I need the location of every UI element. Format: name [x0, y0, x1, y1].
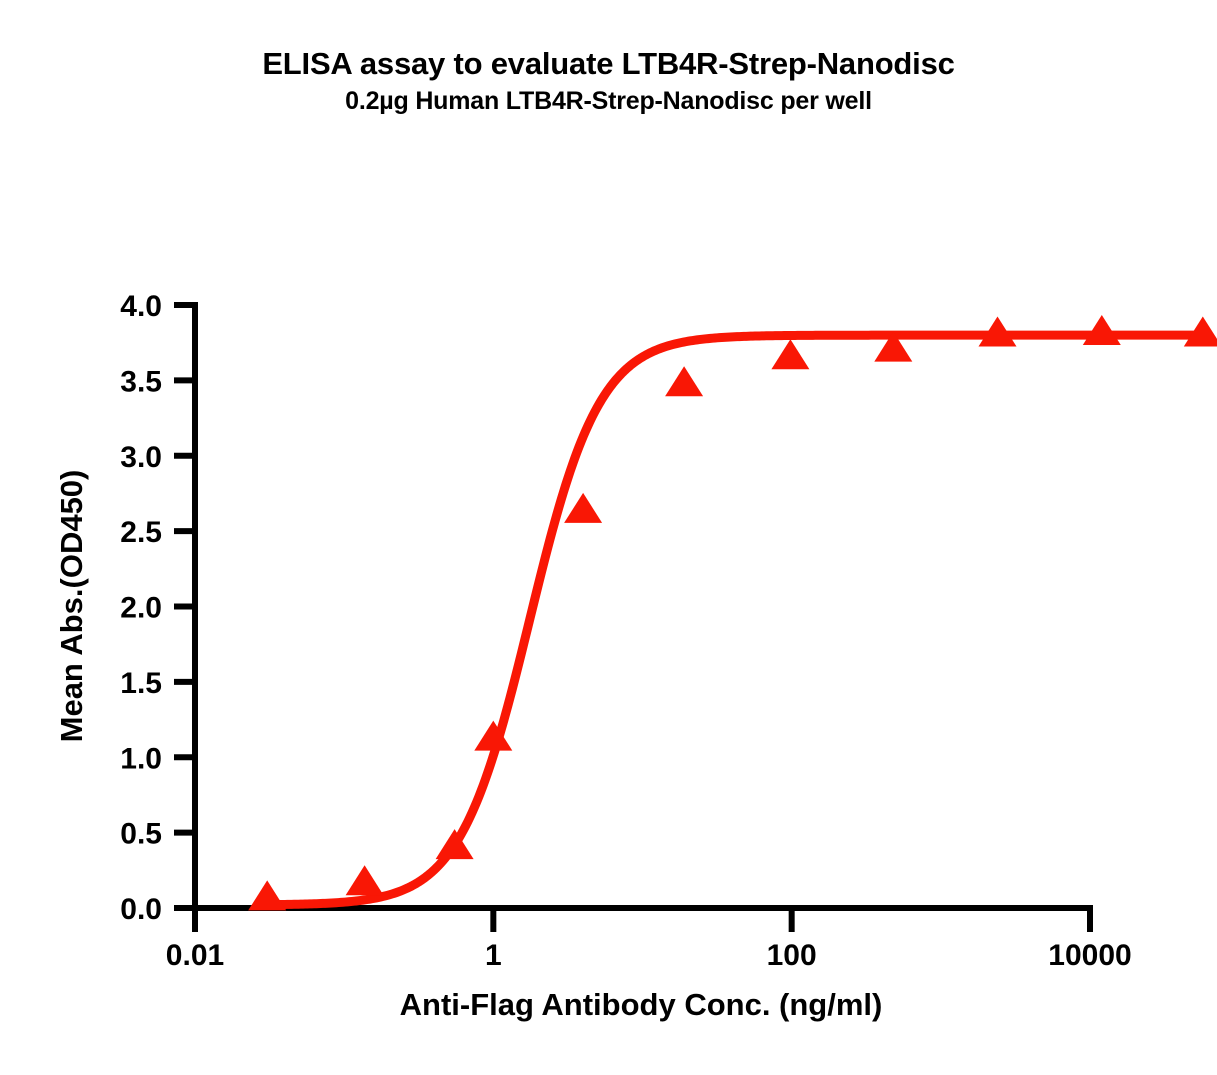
x-tick-label: 1: [485, 939, 502, 972]
data-point-marker: [665, 366, 703, 396]
x-tick-labels: 0.01110010000: [166, 939, 1132, 972]
chart-figure: ELISA assay to evaluate LTB4R-Strep-Nano…: [0, 0, 1217, 1075]
y-tick-label: 2.0: [120, 592, 162, 625]
data-point-marker: [1083, 315, 1121, 345]
y-tick-label: 2.5: [120, 516, 162, 549]
x-tick-label: 100: [767, 939, 817, 972]
x-tick-label: 0.01: [166, 939, 224, 972]
y-tick-label: 3.0: [120, 441, 162, 474]
y-tick-label: 0.0: [120, 893, 162, 926]
data-point-marker: [771, 339, 809, 369]
y-tick-label: 4.0: [120, 290, 162, 323]
fit-curve: [267, 335, 1203, 905]
data-point-marker: [248, 880, 286, 910]
x-axis-title: Anti-Flag Antibody Conc. (ng/ml): [400, 987, 883, 1022]
y-tick-label: 0.5: [120, 818, 162, 851]
x-ticks-group: [195, 908, 1090, 932]
data-point-marker: [436, 829, 474, 859]
data-markers: [248, 315, 1217, 910]
y-axis-title: Mean Abs.(OD450): [54, 470, 89, 743]
axes-group: [192, 305, 1090, 908]
y-tick-label: 1.0: [120, 742, 162, 775]
data-point-marker: [346, 865, 384, 895]
y-tick-label: 1.5: [120, 667, 162, 700]
data-point-marker: [564, 493, 602, 523]
y-ticks-group: [174, 305, 195, 908]
y-tick-label: 3.5: [120, 365, 162, 398]
y-tick-labels: 0.00.51.01.52.02.53.03.54.0: [120, 290, 162, 926]
plot-area: 0.00.51.01.52.02.53.03.54.0 0.0111001000…: [0, 0, 1217, 1075]
x-tick-label: 10000: [1048, 939, 1131, 972]
